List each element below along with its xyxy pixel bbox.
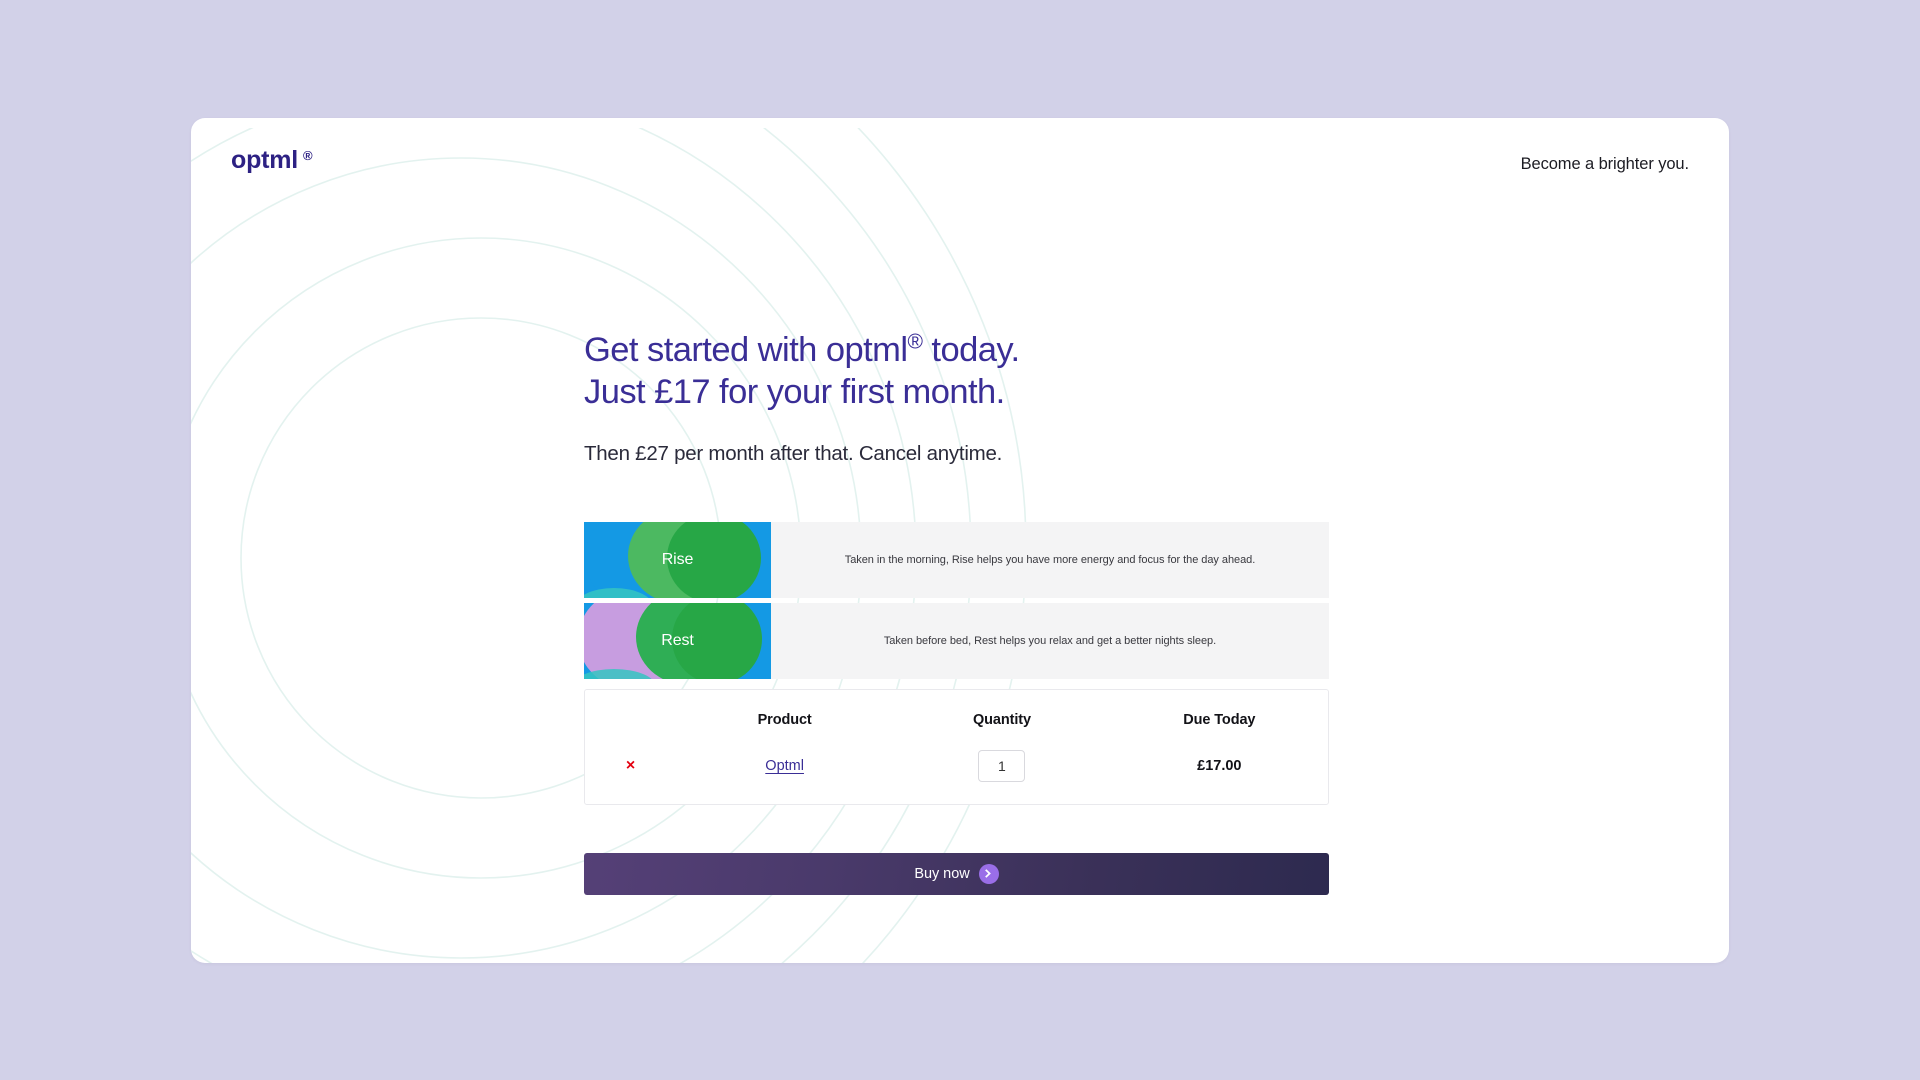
brand-logo[interactable]: optml ® — [231, 148, 312, 173]
chevron-right-icon — [979, 864, 999, 884]
buy-now-button[interactable]: Buy now — [584, 853, 1329, 895]
table-row: × Optml £17.00 — [585, 734, 1328, 804]
option-row-rest[interactable]: Rest Taken before bed, Rest helps you re… — [584, 603, 1329, 679]
cell-due-today: £17.00 — [1111, 734, 1328, 804]
product-link-optml[interactable]: Optml — [765, 758, 804, 774]
option-description-rest-text: Taken before bed, Rest helps you relax a… — [884, 635, 1216, 647]
due-today-amount: £17.00 — [1197, 758, 1241, 774]
option-row-rise[interactable]: Rise Taken in the morning, Rise helps yo… — [584, 522, 1329, 598]
cell-remove: × — [585, 734, 676, 804]
main-content: Get started with optml® today. Just £17 … — [584, 174, 1329, 895]
column-header-due-today: Due Today — [1111, 690, 1328, 734]
registered-mark-icon: ® — [303, 149, 312, 162]
card-header: optml ® Become a brighter you. — [191, 118, 1729, 174]
column-header-product: Product — [676, 690, 893, 734]
headline-registered-icon: ® — [907, 330, 922, 353]
header-tagline: Become a brighter you. — [1521, 148, 1689, 174]
headline-line-2: Just £17 for your first month. — [584, 373, 1005, 411]
option-tile-rest: Rest — [584, 603, 771, 679]
option-description-rest: Taken before bed, Rest helps you relax a… — [771, 603, 1329, 679]
remove-item-icon[interactable]: × — [626, 758, 635, 774]
quantity-input[interactable] — [978, 750, 1025, 782]
brand-name: optml — [231, 148, 298, 173]
headline-line-1-post: today. — [922, 331, 1019, 369]
option-tile-rise: Rise — [584, 522, 771, 598]
buy-now-label: Buy now — [914, 866, 969, 882]
column-header-remove — [585, 690, 676, 734]
product-options: Rise Taken in the morning, Rise helps yo… — [584, 522, 1329, 679]
option-description-rise: Taken in the morning, Rise helps you hav… — [771, 522, 1329, 598]
checkout-card: optml ® Become a brighter you. Get start… — [191, 118, 1729, 963]
page-subtitle: Then £27 per month after that. Cancel an… — [584, 442, 1329, 466]
option-label-rise: Rise — [662, 551, 694, 569]
cell-product: Optml — [676, 734, 893, 804]
cell-quantity — [893, 734, 1110, 804]
column-header-quantity: Quantity — [893, 690, 1110, 734]
cart-table: Product Quantity Due Today × Optml — [584, 689, 1329, 805]
table-header-row: Product Quantity Due Today — [585, 690, 1328, 734]
option-label-rest: Rest — [661, 632, 694, 650]
headline-line-1-pre: Get started with optml — [584, 331, 907, 369]
option-description-rise-text: Taken in the morning, Rise helps you hav… — [845, 554, 1256, 566]
page-title: Get started with optml® today. Just £17 … — [584, 329, 1329, 413]
